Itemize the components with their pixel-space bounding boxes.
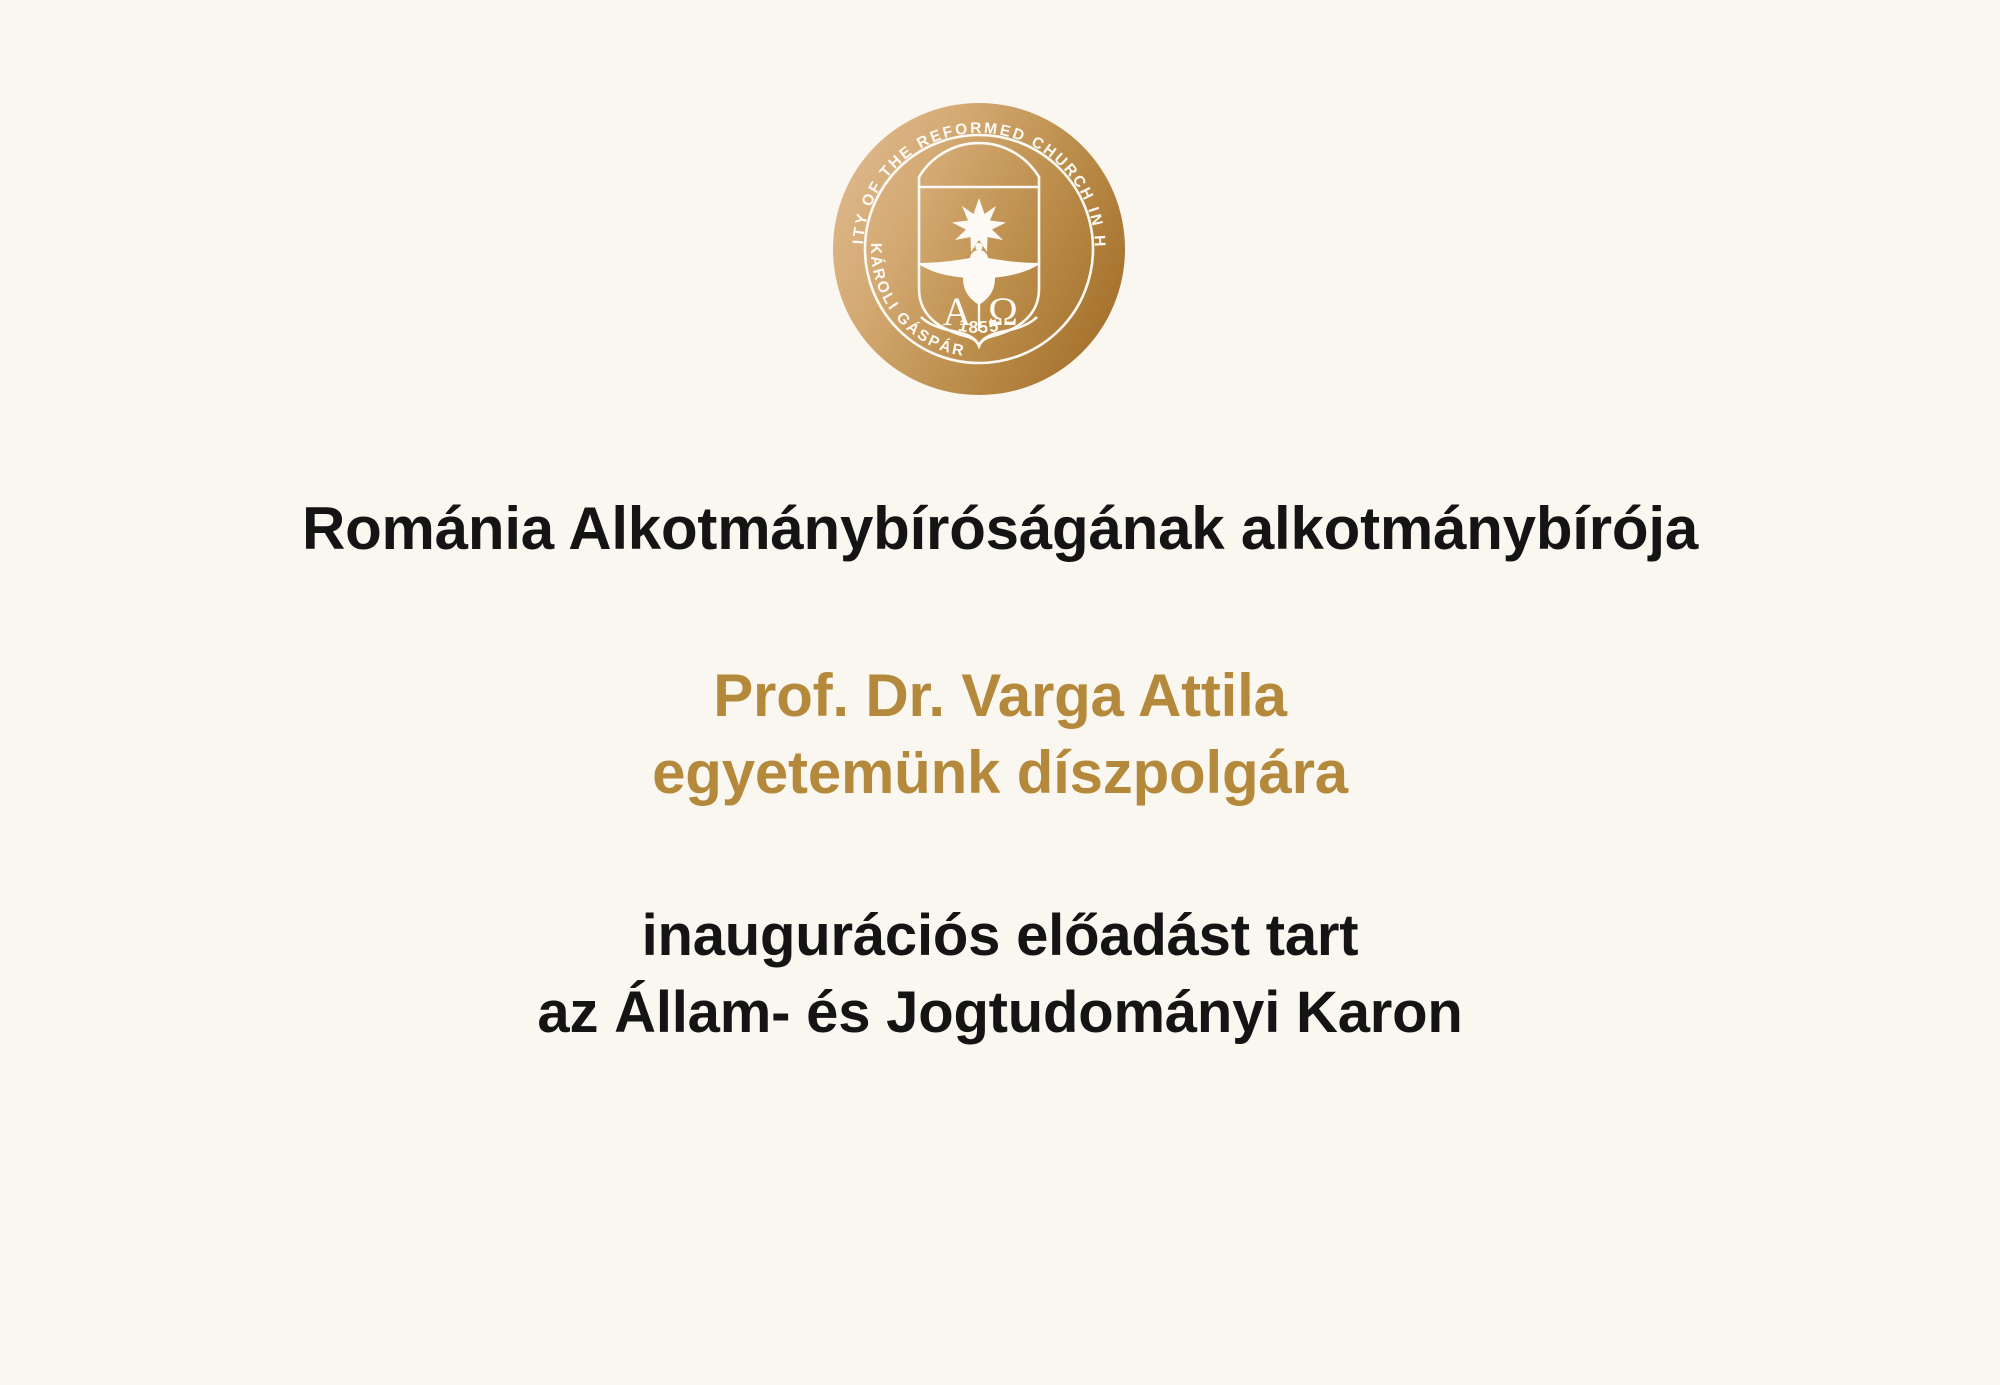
spacer-one xyxy=(0,565,2000,661)
seal-omega-letter: Ω xyxy=(988,289,1018,334)
event-line-two: az Állam- és Jogtudományi Karon xyxy=(0,971,2000,1047)
spacer-two xyxy=(0,808,2000,902)
seal-alpha-letter: A xyxy=(943,289,972,334)
event-line-one: inaugurációs előadást tart xyxy=(0,902,2000,970)
honoree-title: egyetemünk díszpolgára xyxy=(0,732,2000,809)
headline-role: Románia Alkotmánybíróságának alkotmánybí… xyxy=(0,470,2000,565)
slide-text-block: Románia Alkotmánybíróságának alkotmánybí… xyxy=(0,470,2000,1047)
honoree-name: Prof. Dr. Varga Attila xyxy=(0,661,2000,732)
university-seal-logo: UNIVERSITY OF THE REFORMED CHURCH IN HUN… xyxy=(833,103,1125,395)
announcement-slide: UNIVERSITY OF THE REFORMED CHURCH IN HUN… xyxy=(0,0,2000,1385)
